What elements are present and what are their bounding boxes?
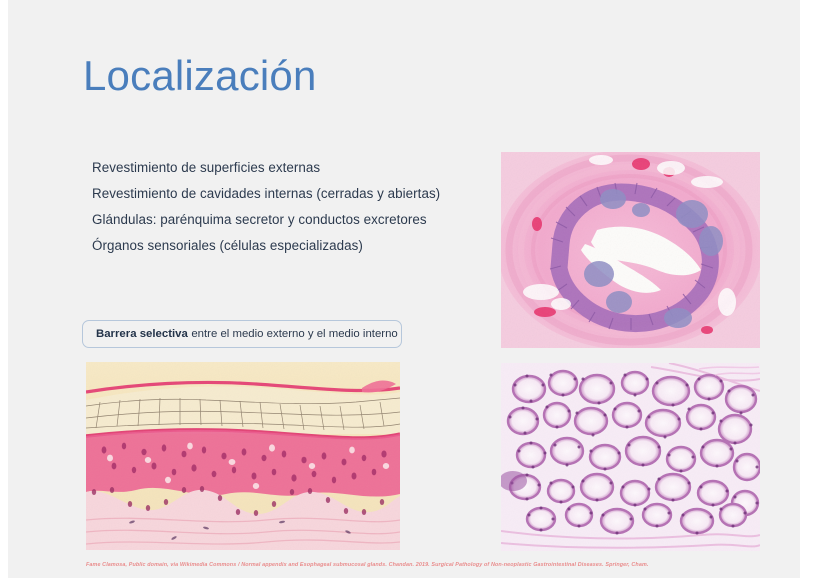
appendix-cross-section-image: [501, 152, 760, 348]
bullet-list: Revestimiento de superficies externas Re…: [92, 155, 492, 259]
esophageal-submucosal-glands-image: [501, 363, 760, 551]
callout-text: entre el medio externo y el medio intern…: [191, 328, 397, 340]
list-item: Revestimiento de superficies externas: [92, 155, 492, 181]
page-title: Localización: [83, 52, 317, 100]
list-item: Glándulas: parénquima secretor y conduct…: [92, 207, 492, 233]
list-item: Revestimiento de cavidades internas (cer…: [92, 181, 492, 207]
stratified-squamous-epithelium-image: [86, 362, 400, 550]
callout-box: Barrera selectiva entre el medio externo…: [82, 320, 402, 348]
list-item: Órganos sensoriales (células especializa…: [92, 233, 492, 259]
callout-emphasis: Barrera selectiva: [96, 328, 188, 340]
slide-canvas: Localización Revestimiento de superficie…: [8, 0, 800, 578]
image-credit-caption: Fame Clamosa, Public domain, via Wikimed…: [86, 562, 649, 568]
